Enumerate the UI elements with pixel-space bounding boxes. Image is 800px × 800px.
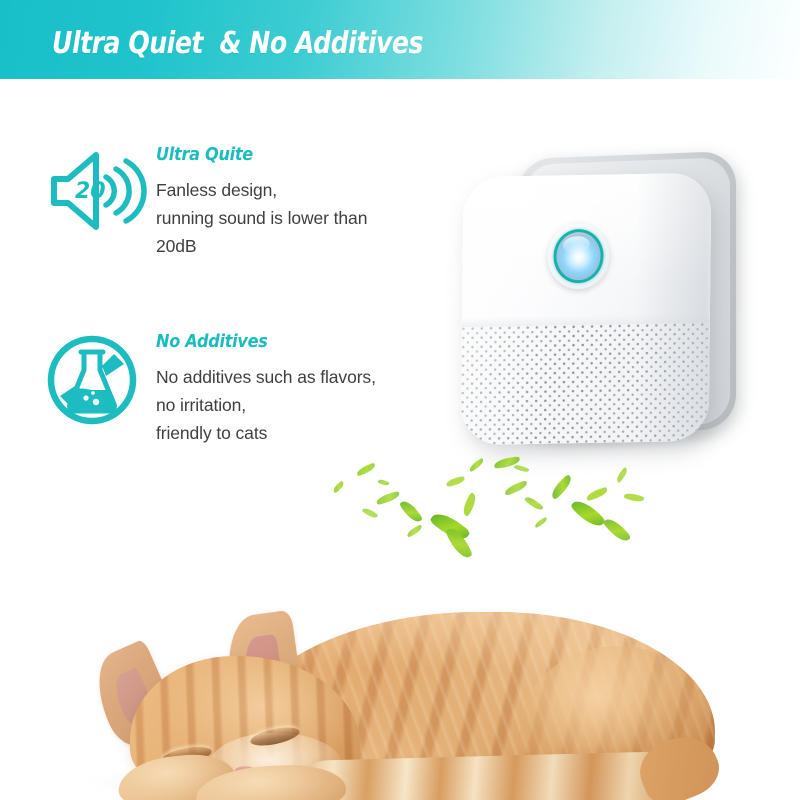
page-title: Ultra Quiet & No Additives xyxy=(52,26,423,61)
feature-block-ultra-quiet: 20 Ultra Quite Fanless design, running s… xyxy=(44,145,367,260)
product-grille xyxy=(461,323,710,445)
feature-description: Fanless design, running sound is lower t… xyxy=(156,176,367,260)
feature-block-no-additives: No Additives No additives such as flavor… xyxy=(44,332,376,447)
leaf xyxy=(468,458,485,472)
leaf xyxy=(514,463,530,474)
leaf xyxy=(534,517,549,528)
product-front-body xyxy=(461,173,712,445)
leaf xyxy=(355,463,376,477)
feature-text-no-additives: No Additives No additives such as flavor… xyxy=(148,332,376,447)
leaf xyxy=(615,467,630,483)
leaf xyxy=(377,478,389,487)
speaker-db-badge: 20 xyxy=(75,179,106,204)
header-banner: Ultra Quiet & No Additives xyxy=(0,0,800,79)
leaf xyxy=(362,506,379,520)
leaf xyxy=(399,498,423,526)
leaf xyxy=(524,494,544,512)
leaf xyxy=(570,496,606,532)
leaf xyxy=(623,491,644,504)
feature-heading: Ultra Quite xyxy=(156,145,350,165)
indicator-ring xyxy=(552,227,605,285)
leaf xyxy=(332,481,346,494)
sleeping-orange-tabby-cat xyxy=(0,560,800,800)
feature-heading: No Additives xyxy=(156,332,358,352)
product-indicator-button[interactable] xyxy=(546,221,612,292)
leaf xyxy=(445,476,465,487)
leaf xyxy=(603,515,632,545)
leaf xyxy=(460,492,479,517)
leaf xyxy=(585,487,608,501)
no-additives-flask-icon xyxy=(44,332,148,428)
product-image-air-purifier xyxy=(440,143,770,473)
speaker-volume-icon: 20 xyxy=(44,145,148,241)
leaf xyxy=(406,524,424,537)
leaf xyxy=(548,474,574,500)
leaf xyxy=(503,480,528,496)
leaf xyxy=(375,491,400,505)
feature-description: No additives such as flavors, no irritat… xyxy=(156,363,376,447)
floating-green-leaves xyxy=(318,448,648,558)
product-feature-page: Ultra Quiet & No Additives 20 Ultra Quit… xyxy=(0,0,800,800)
feature-text-ultra-quiet: Ultra Quite Fanless design, running soun… xyxy=(148,145,367,260)
